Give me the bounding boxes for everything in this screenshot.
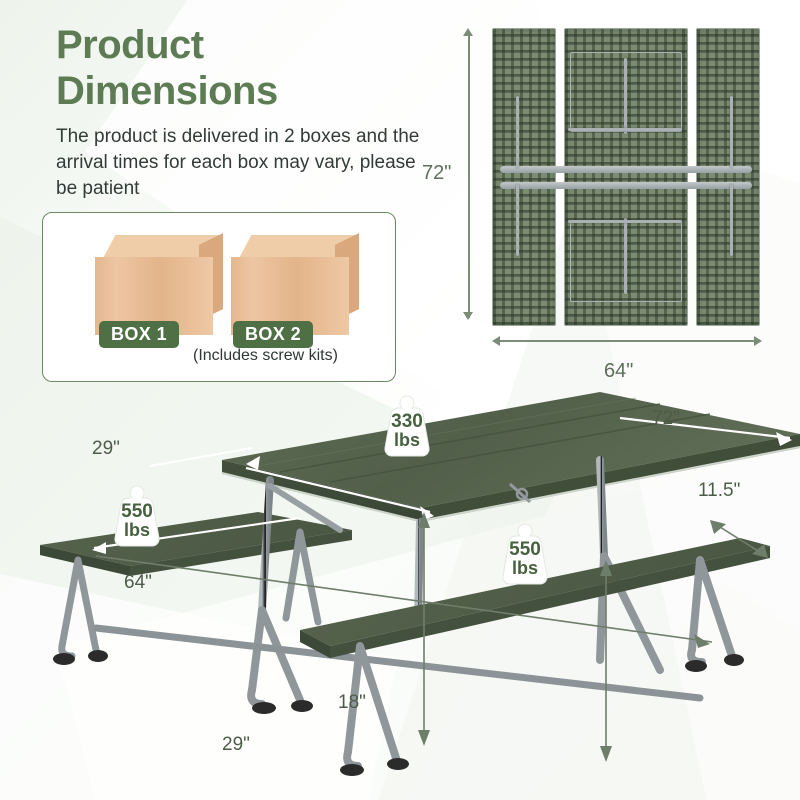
bench-width-label: 11.5" xyxy=(698,480,740,502)
infographic-canvas: Product Dimensions The product is delive… xyxy=(0,0,800,800)
folded-height-arrow-bottom xyxy=(463,312,473,320)
header-block: Product Dimensions The product is delive… xyxy=(56,22,476,202)
folded-cross-bar xyxy=(500,166,752,173)
capacity-value: 550 xyxy=(100,502,174,521)
folded-bench-arm xyxy=(730,96,733,168)
folded-hinge-bar xyxy=(568,128,682,131)
folded-bench-arm xyxy=(516,96,519,168)
bench-height-label: 18" xyxy=(338,692,366,714)
box-1-label: BOX 1 xyxy=(99,321,179,348)
folded-cross-bar xyxy=(500,182,752,189)
capacity-badge-bench-left: 550 lbs xyxy=(100,482,174,556)
page-title: Product Dimensions xyxy=(56,22,476,114)
table-width-label: 29" xyxy=(92,438,120,460)
box-2-label: BOX 2 xyxy=(233,321,313,348)
folded-width-line xyxy=(498,340,754,342)
capacity-unit: lbs xyxy=(100,521,174,539)
capacity-value: 550 xyxy=(488,540,562,559)
folded-hinge-bar xyxy=(568,220,682,223)
table-length-label: 72" xyxy=(652,408,680,430)
folded-height-line xyxy=(468,34,470,318)
folded-height-label: 72" xyxy=(422,162,451,185)
folded-width-arrow-right xyxy=(754,336,762,346)
title-line-1: Product xyxy=(56,23,204,67)
folded-bench-arm xyxy=(516,184,519,256)
packaging-card: BOX 1 BOX 2 (Includes screw kits) xyxy=(42,212,396,382)
folded-panel-right xyxy=(696,28,760,326)
capacity-badge-bench-right: 550 lbs xyxy=(488,520,562,594)
capacity-value: 330 xyxy=(370,412,444,431)
table-height-label: 29" xyxy=(222,734,250,756)
picnic-table-illustration: 330 lbs 550 lbs 550 lbs 29" 72" 11.5" 64… xyxy=(0,360,800,800)
capacity-unit: lbs xyxy=(488,559,562,577)
folded-height-arrow-top xyxy=(463,28,473,36)
capacity-unit: lbs xyxy=(370,431,444,449)
folded-bench-arm xyxy=(730,184,733,256)
title-line-2: Dimensions xyxy=(56,69,278,113)
folded-panel-left xyxy=(492,28,556,326)
folded-leg-tube xyxy=(624,58,627,134)
capacity-badge-tabletop: 330 lbs xyxy=(370,392,444,466)
table-top xyxy=(222,392,800,522)
folded-table-top-view: 72" 64" xyxy=(492,28,760,324)
folded-leg-tube xyxy=(624,218,627,294)
folded-width-arrow-left xyxy=(492,336,500,346)
page-subtitle: The product is delivered in 2 boxes and … xyxy=(56,124,436,202)
overall-width-label: 64" xyxy=(124,572,152,594)
